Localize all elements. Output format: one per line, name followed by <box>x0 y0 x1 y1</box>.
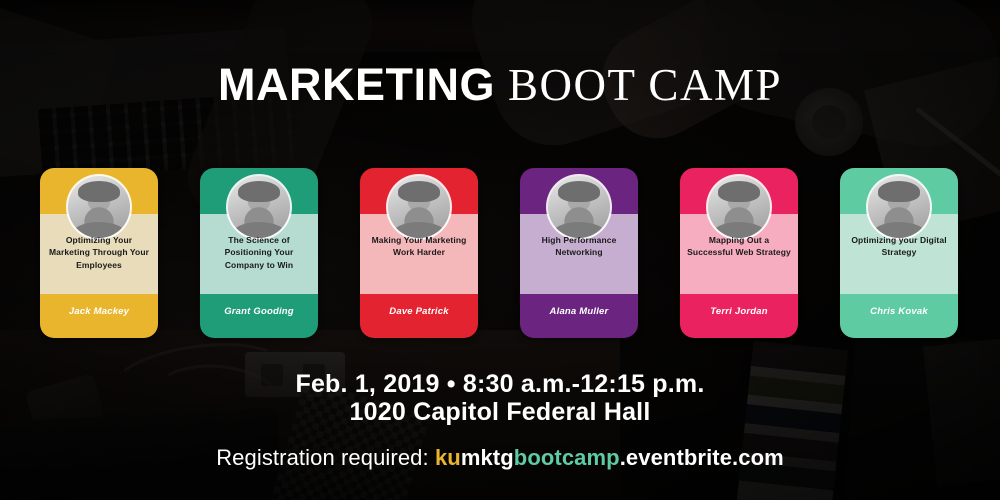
title-boot-camp: BOOT CAMP <box>508 60 782 110</box>
event-venue: 1020 Capitol Federal Hall <box>0 398 1000 427</box>
speaker-photo-alana-muller <box>548 176 610 238</box>
speaker-name: Terri Jordan <box>684 306 794 317</box>
speaker-photo-jack-mackey <box>68 176 130 238</box>
avatar-hair <box>78 181 120 202</box>
speaker-topic: Making Your Marketing Work Harder <box>366 234 472 259</box>
speaker-photo-terri-jordan <box>708 176 770 238</box>
speaker-card-list: Optimizing Your Marketing Through Your E… <box>0 168 1000 338</box>
avatar-hair <box>878 181 920 202</box>
registration-url-part-ku[interactable]: ku <box>435 445 461 470</box>
speaker-card[interactable]: Optimizing your Digital StrategyChris Ko… <box>840 168 958 338</box>
speaker-photo-chris-kovak <box>868 176 930 238</box>
marketing-boot-camp-poster: MARKETING BOOT CAMP Optimizing Your Mark… <box>0 0 1000 500</box>
registration-url-part-bootcamp[interactable]: bootcamp <box>514 445 620 470</box>
registration-url-part-mktg[interactable]: mktg <box>461 445 514 470</box>
speaker-topic: Mapping Out a Successful Web Strategy <box>686 234 792 259</box>
speaker-name: Jack Mackey <box>44 306 154 317</box>
speaker-topic: Optimizing your Digital Strategy <box>846 234 952 259</box>
title-marketing: MARKETING <box>218 59 495 110</box>
speaker-name: Dave Patrick <box>364 306 474 317</box>
poster-title: MARKETING BOOT CAMP <box>0 62 1000 108</box>
speaker-name: Chris Kovak <box>844 306 954 317</box>
avatar-hair <box>558 181 600 202</box>
registration-prefix: Registration required: <box>216 445 435 470</box>
speaker-topic: Optimizing Your Marketing Through Your E… <box>46 234 152 271</box>
speaker-topic: The Science of Positioning Your Company … <box>206 234 312 271</box>
speaker-name: Grant Gooding <box>204 306 314 317</box>
speaker-name: Alana Muller <box>524 306 634 317</box>
speaker-card[interactable]: The Science of Positioning Your Company … <box>200 168 318 338</box>
speaker-photo-dave-patrick <box>388 176 450 238</box>
avatar-hair <box>718 181 760 202</box>
speaker-topic: High Performance Networking <box>526 234 632 259</box>
speaker-card[interactable]: High Performance NetworkingAlana Muller <box>520 168 638 338</box>
speaker-photo-grant-gooding <box>228 176 290 238</box>
speaker-card[interactable]: Making Your Marketing Work HarderDave Pa… <box>360 168 478 338</box>
avatar-hair <box>238 181 280 202</box>
registration-url-part-domain[interactable]: .eventbrite.com <box>620 445 784 470</box>
speaker-card[interactable]: Mapping Out a Successful Web StrategyTer… <box>680 168 798 338</box>
registration-line: Registration required: kumktgbootcamp.ev… <box>0 445 1000 471</box>
event-datetime: Feb. 1, 2019 • 8:30 a.m.-12:15 p.m. <box>0 370 1000 399</box>
avatar-hair <box>398 181 440 202</box>
speaker-card[interactable]: Optimizing Your Marketing Through Your E… <box>40 168 158 338</box>
